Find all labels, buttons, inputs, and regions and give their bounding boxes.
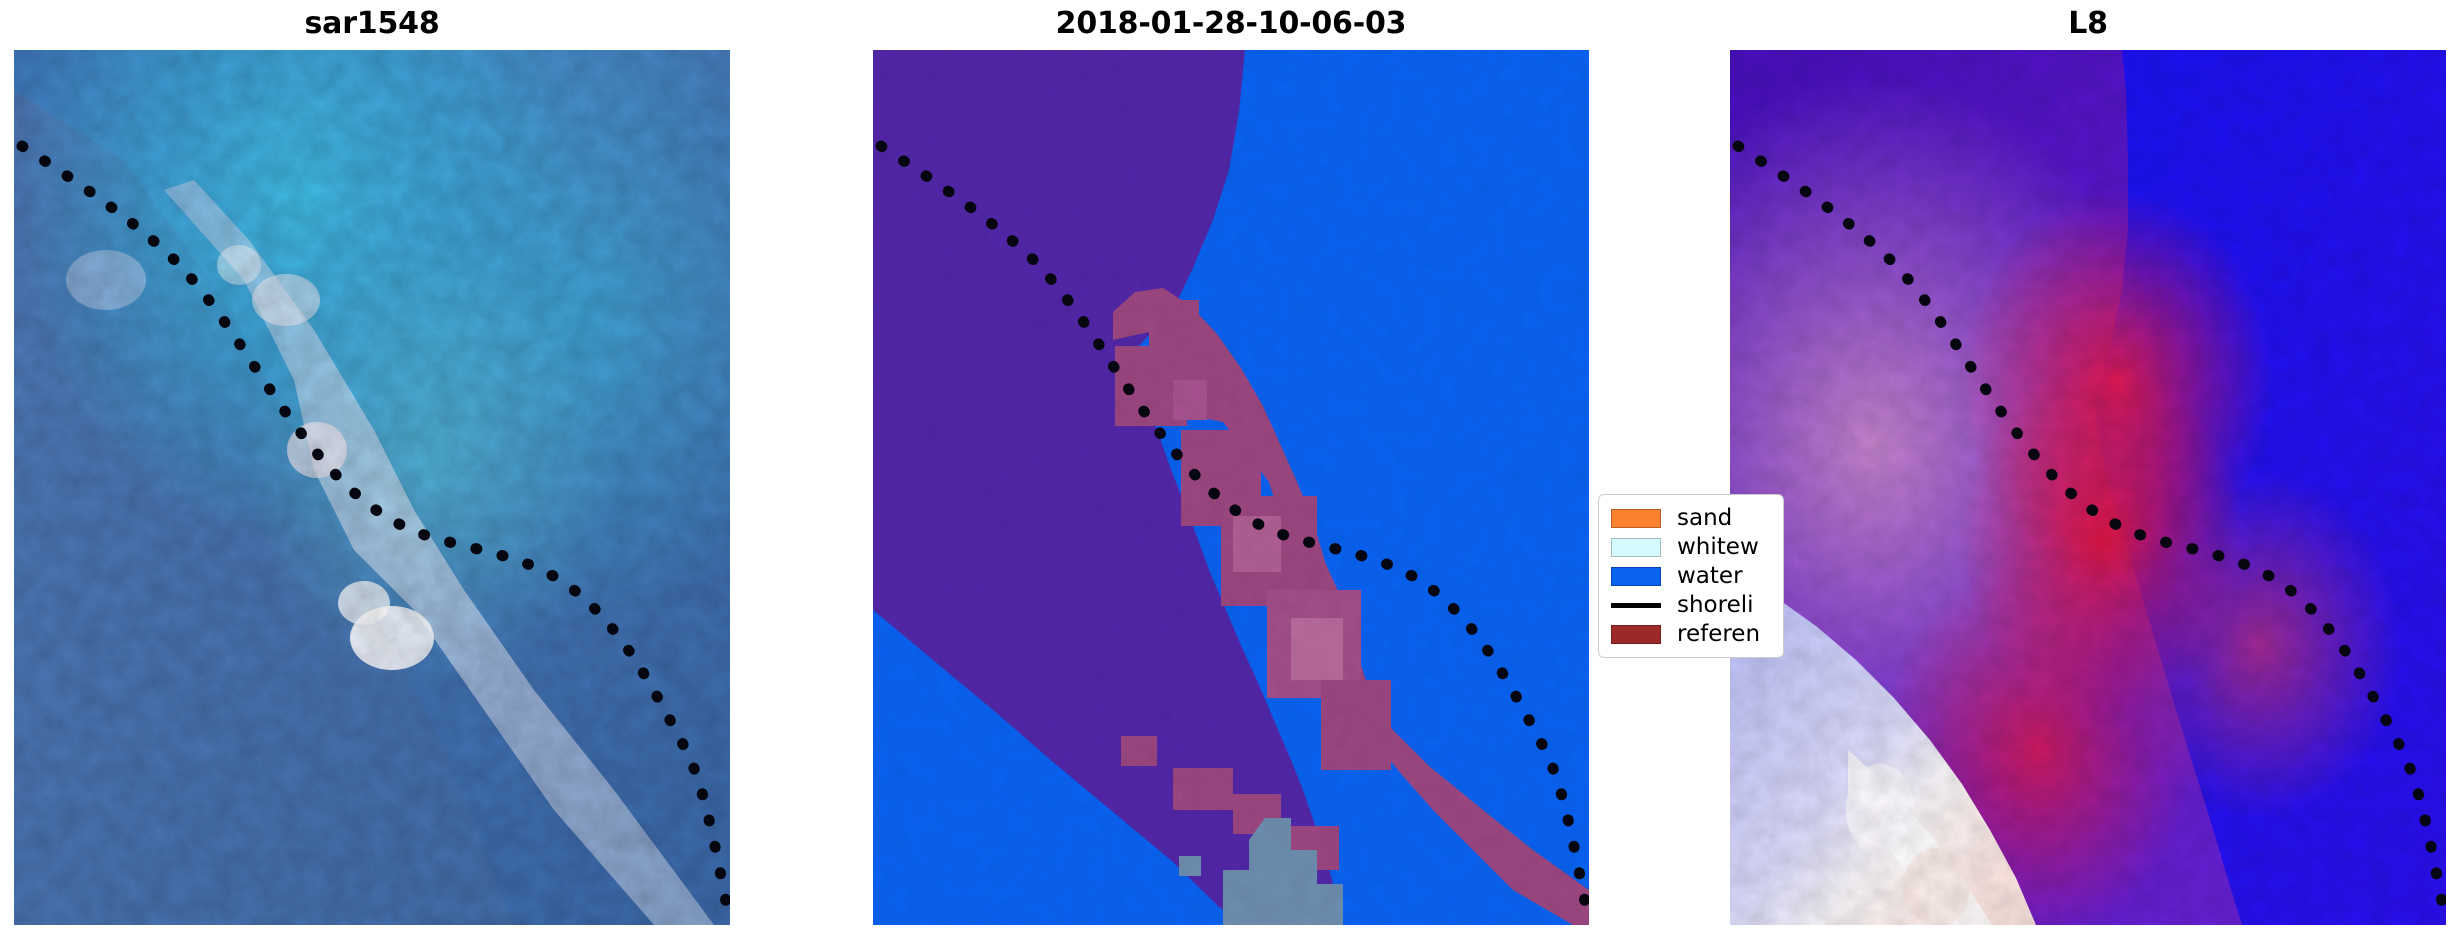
reference-color-swatch bbox=[1611, 625, 1661, 644]
legend-item-shoreline[interactable]: shoreli bbox=[1611, 591, 1773, 619]
panel-sar1548[interactable] bbox=[14, 50, 730, 925]
sar-image bbox=[14, 50, 730, 925]
legend-item-reference[interactable]: referen bbox=[1611, 620, 1773, 648]
figure-root: sar1548 bbox=[0, 0, 2460, 940]
legend-item-water[interactable]: water bbox=[1611, 562, 1773, 590]
legend: sand whitew water shoreli referen bbox=[1598, 494, 1784, 658]
water-color-swatch bbox=[1611, 567, 1661, 586]
panel-title-sar: sar1548 bbox=[14, 6, 730, 41]
legend-label-whitewater: whitew bbox=[1677, 536, 1759, 559]
sand-color-swatch bbox=[1611, 509, 1661, 528]
legend-item-whitewater[interactable]: whitew bbox=[1611, 533, 1773, 561]
legend-label-shoreline: shoreli bbox=[1677, 594, 1754, 617]
panel-title-classification: 2018-01-28-10-06-03 bbox=[873, 6, 1589, 41]
panel-title-l8: L8 bbox=[1730, 6, 2446, 41]
panel-l8[interactable] bbox=[1730, 50, 2446, 925]
legend-item-sand[interactable]: sand bbox=[1611, 504, 1773, 532]
l8-image bbox=[1730, 50, 2446, 925]
legend-label-reference: referen bbox=[1677, 623, 1760, 646]
legend-label-water: water bbox=[1677, 565, 1743, 588]
legend-label-sand: sand bbox=[1677, 507, 1732, 530]
classification-image bbox=[873, 50, 1589, 925]
shoreline-line-swatch bbox=[1611, 603, 1661, 608]
panel-classification[interactable] bbox=[873, 50, 1589, 925]
whitewater-color-swatch bbox=[1611, 538, 1661, 557]
